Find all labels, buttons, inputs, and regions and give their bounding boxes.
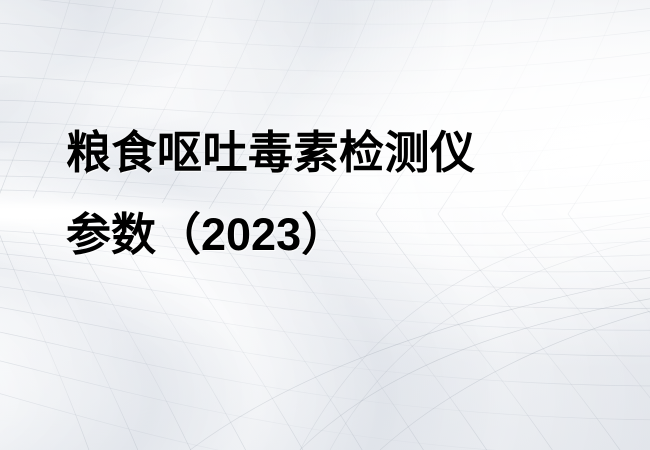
banner-title: 粮食呕吐毒素检测仪 参数（2023） xyxy=(66,112,606,276)
banner-title-line-2: 参数（2023） xyxy=(66,194,606,276)
banner-title-line-1: 粮食呕吐毒素检测仪 xyxy=(66,112,606,194)
banner-image: 粮食呕吐毒素检测仪 参数（2023） xyxy=(0,0,650,450)
